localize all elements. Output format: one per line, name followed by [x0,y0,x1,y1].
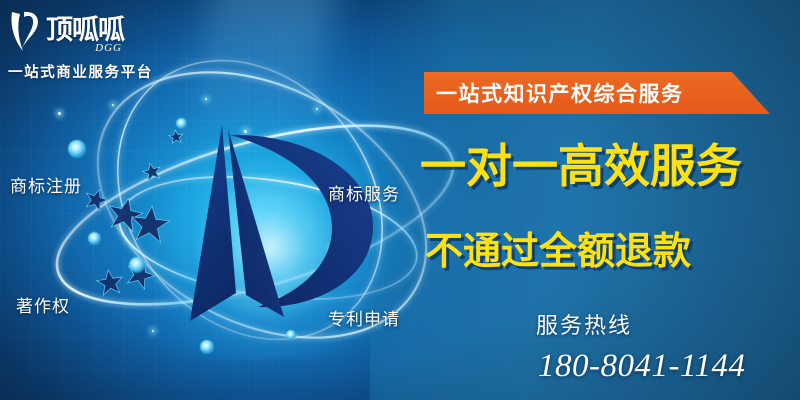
service-label-patent-application[interactable]: 专利申请 [328,305,400,330]
sparkle-dot [112,104,114,106]
hotline-number[interactable]: 180-8041-1144 [538,348,746,385]
brand-tagline: 一站式商业服务平台 [8,61,168,82]
promo-ribbon: 一站式知识产权综合服务 [424,72,770,114]
brand-name-cn: 顶呱呱 [46,17,124,44]
sparkle-dot [58,112,61,115]
service-label-trademark-service[interactable]: 商标服务 [328,180,400,205]
promo-headline: 一对一高效服务 [420,143,742,189]
promo-subline: 不通过全额退款 [425,232,691,270]
service-label-trademark-registration[interactable]: 商标注册 [10,172,82,197]
leaf-swirl-icon [8,8,42,54]
brand-logo[interactable]: 顶呱呱 DGG 一站式商业服务平台 [8,8,168,82]
promo-ribbon-text: 一站式知识产权综合服务 [436,78,684,108]
light-orb [88,232,101,245]
promotional-banner: 顶呱呱 DGG 一站式商业服务平台 商标注册 著作权 商标服务 专利申请 一站式… [0,0,800,400]
service-label-copyright[interactable]: 著作权 [16,292,70,317]
hotline-label: 服务热线 [536,308,632,340]
light-orb [68,140,86,158]
